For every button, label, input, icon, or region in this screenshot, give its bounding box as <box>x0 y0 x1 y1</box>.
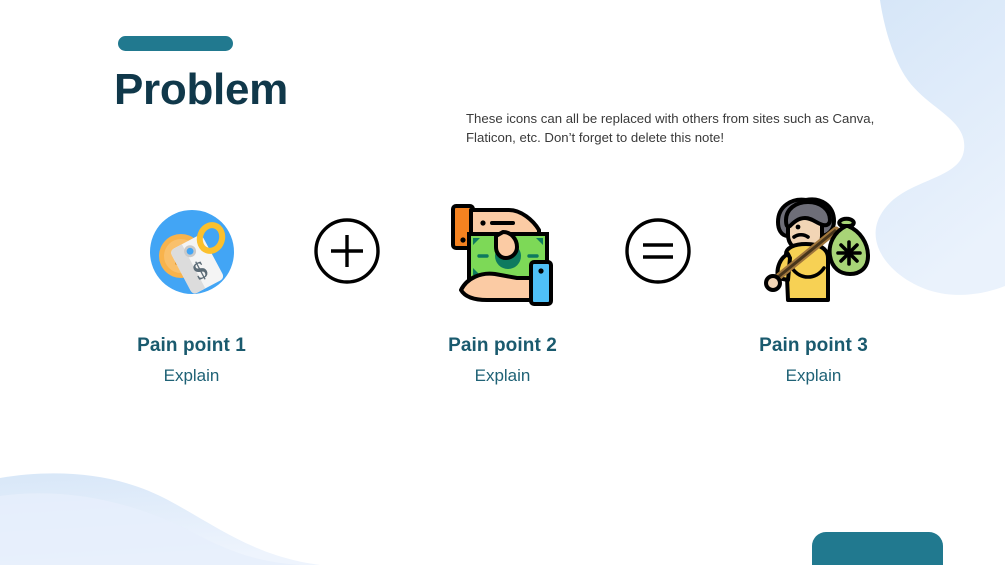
price-tag-coin-icon: $ $ <box>133 193 251 311</box>
pain-points-row: $ $ Pain point 1 Explain <box>0 193 1005 393</box>
pain-point-title: Pain point 2 <box>448 335 557 357</box>
pain-point-description: Explain <box>164 366 220 386</box>
pain-point-description: Explain <box>786 366 842 386</box>
blob-bottom-left <box>0 473 320 565</box>
slide-header: Problem <box>117 36 288 116</box>
money-exchange-hands-icon <box>444 193 562 311</box>
pain-point-item-2[interactable]: Pain point 2 Explain <box>406 193 599 386</box>
slide-canvas: Problem These icons can all be replaced … <box>0 0 1005 565</box>
pain-point-title: Pain point 1 <box>137 335 246 357</box>
page-title: Problem <box>114 64 288 116</box>
teal-accent-block <box>812 532 943 565</box>
person-carrying-money-bag-icon <box>755 193 873 311</box>
pain-point-description: Explain <box>475 366 531 386</box>
equals-circle-icon <box>623 216 693 286</box>
pain-point-item-3[interactable]: Pain point 3 Explain <box>717 193 910 386</box>
accent-bar <box>118 36 233 51</box>
pain-point-title: Pain point 3 <box>759 335 868 357</box>
operator-plus <box>288 193 406 286</box>
operator-equals <box>599 193 717 286</box>
blob-bottom-left-secondary <box>0 493 300 565</box>
plus-circle-icon <box>312 216 382 286</box>
designer-note: These icons can all be replaced with oth… <box>466 110 884 147</box>
pain-point-item-1[interactable]: $ $ Pain point 1 Explain <box>95 193 288 386</box>
